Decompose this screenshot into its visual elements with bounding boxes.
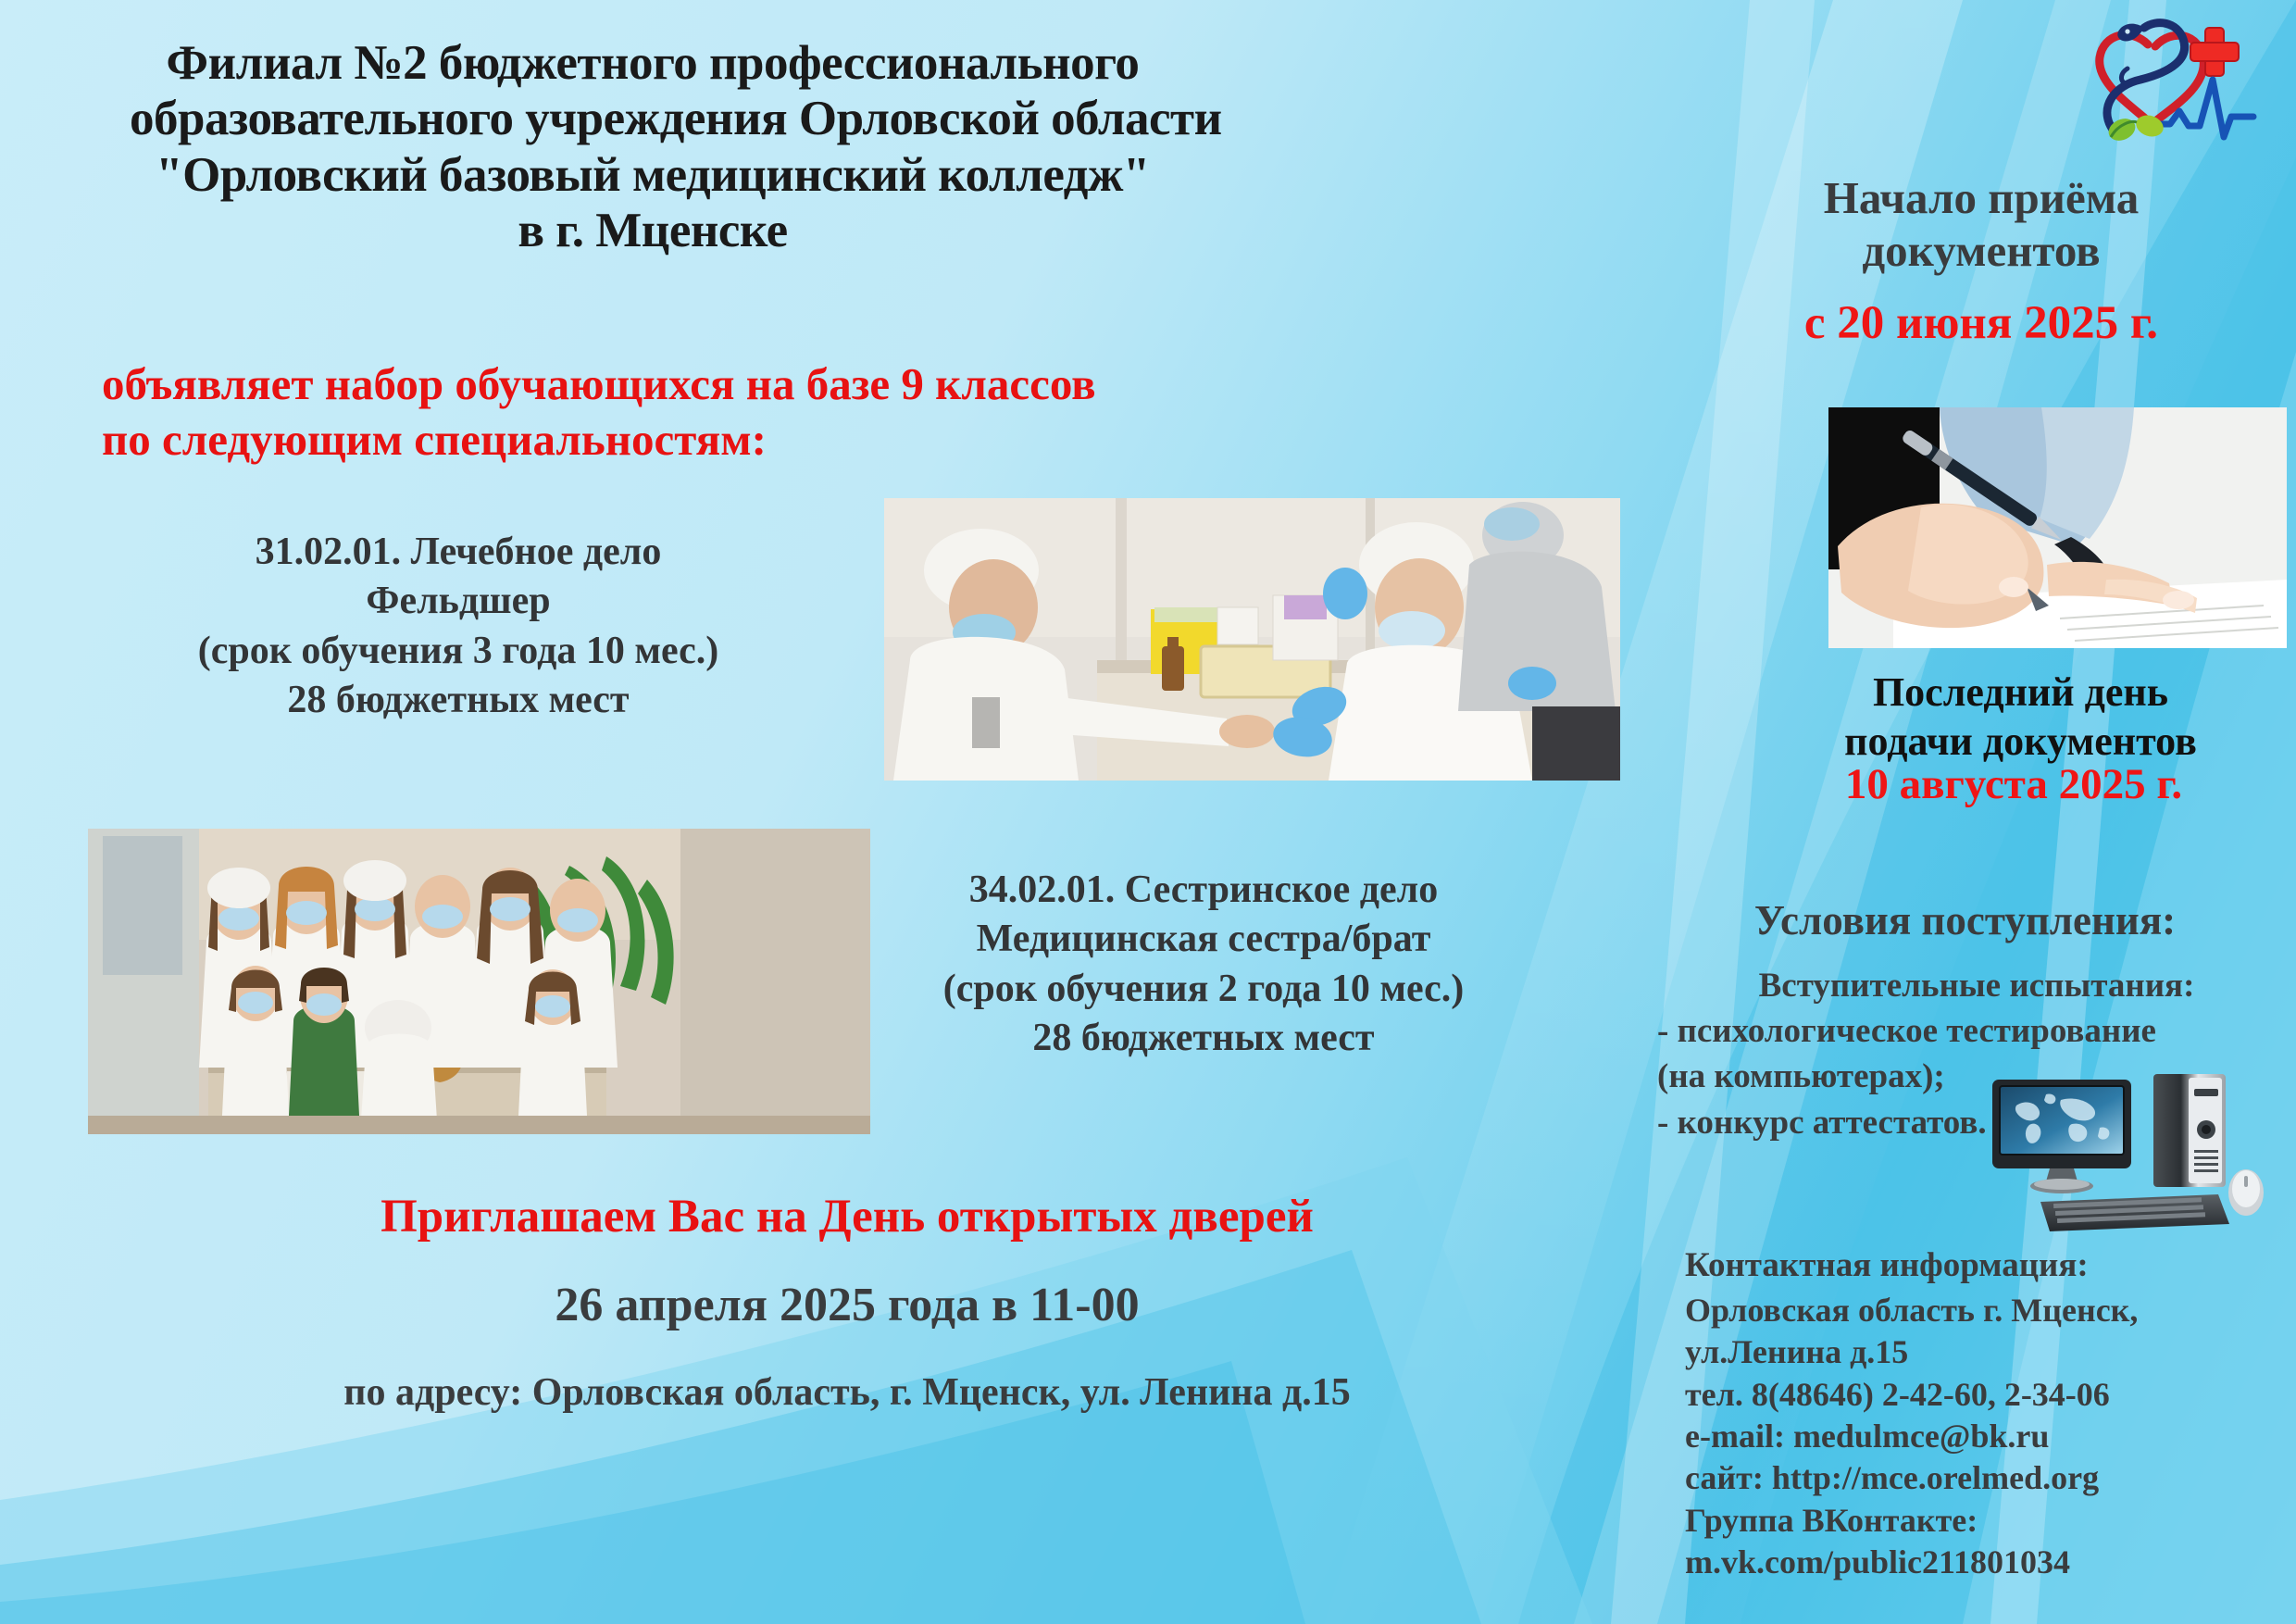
conditions-heading: Условия поступления: (1634, 896, 2296, 944)
group-photo-illustration (88, 829, 870, 1134)
contact-website[interactable]: сайт: http://mce.orelmed.org (1685, 1457, 2296, 1499)
contact-email[interactable]: e-mail: medulmce@bk.ru (1685, 1416, 2296, 1457)
admission-start-date: с 20 июня 2025 г. (1676, 296, 2287, 350)
admission-start-heading-line-2: документов (1694, 224, 2268, 277)
title-line-3: "Орловский базовый медицинский колледж" (130, 147, 1176, 203)
poster-root: Филиал №2 бюджетного профессионального о… (0, 0, 2296, 1624)
title-line-4: в г. Мценске (130, 203, 1176, 258)
contact-vk-link[interactable]: m.vk.com/public211801034 (1685, 1542, 2296, 1583)
open-house-date: 26 апреля 2025 года в 11-00 (139, 1278, 1555, 1332)
photo-student-group (88, 829, 870, 1134)
specialty-2-qualification: Медицинская сестра/брат (833, 915, 1574, 964)
contacts-list: Орловская область г. Мценск, ул.Ленина д… (1685, 1290, 2296, 1584)
desktop-computer-icon (1981, 1072, 2268, 1239)
announcement-line-1: объявляет набор обучающихся на базе 9 кл… (102, 356, 1129, 412)
contact-phone: тел. 8(48646) 2-42-60, 2-34-06 (1685, 1374, 2296, 1416)
specialty-2-seats: 28 бюджетных мест (833, 1014, 1574, 1063)
announcement-line-2: по следующим специальностям: (102, 412, 1129, 468)
specialty-block-1: 31.02.01. Лечебное дело Фельдшер (срок о… (74, 528, 842, 725)
open-house-address: по адресу: Орловская область, г. Мценск,… (139, 1370, 1555, 1415)
admission-start-heading-line-1: Начало приёма (1694, 171, 2268, 224)
contact-address-line-1: Орловская область г. Мценск, (1685, 1290, 2296, 1331)
hand-writing-illustration (1828, 407, 2287, 648)
announcement-text: объявляет набор обучающихся на базе 9 кл… (102, 356, 1129, 468)
title-line-1: Филиал №2 бюджетного профессионального (130, 35, 1176, 91)
contact-address-line-2: ул.Ленина д.15 (1685, 1331, 2296, 1373)
specialty-1-qualification: Фельдшер (74, 577, 842, 626)
computer-monitor-tower-keyboard-mouse-icon (1981, 1072, 2268, 1239)
conditions-item-2: - психологическое тестирование (1657, 1008, 2296, 1054)
admission-end-date: 10 августа 2025 г. (1731, 759, 2296, 809)
title-line-2: образовательного учреждения Орловской об… (130, 91, 1176, 146)
heart-snake-cross-ecg-icon (2090, 7, 2290, 146)
admission-start-heading: Начало приёма документов (1694, 171, 2268, 278)
lab-photo-illustration (884, 498, 1620, 781)
admission-end-heading: Последний день подачи документов (1754, 668, 2287, 767)
contact-vk-label: Группа ВКонтакте: (1685, 1500, 2296, 1542)
page-title: Филиал №2 бюджетного профессионального о… (130, 35, 1176, 259)
conditions-item-1: Вступительные испытания: (1657, 963, 2296, 1008)
contacts-heading: Контактная информация: (1685, 1245, 2296, 1285)
medical-logo-icon (2090, 7, 2290, 146)
open-house-invitation: Приглашаем Вас на День открытых дверей (139, 1190, 1555, 1243)
specialty-1-seats: 28 бюджетных мест (74, 676, 842, 725)
photo-medical-lab (884, 498, 1620, 781)
specialty-2-code-name: 34.02.01. Сестринское дело (833, 866, 1574, 915)
admission-end-heading-line-1: Последний день (1754, 668, 2287, 718)
photo-hand-writing (1828, 407, 2287, 648)
specialty-2-duration: (срок обучения 2 года 10 мес.) (833, 965, 1574, 1014)
left-column: Филиал №2 бюджетного профессионального о… (0, 0, 1657, 1624)
specialty-1-code-name: 31.02.01. Лечебное дело (74, 528, 842, 577)
specialty-block-2: 34.02.01. Сестринское дело Медицинская с… (833, 866, 1574, 1063)
specialty-1-duration: (срок обучения 3 года 10 мес.) (74, 627, 842, 676)
